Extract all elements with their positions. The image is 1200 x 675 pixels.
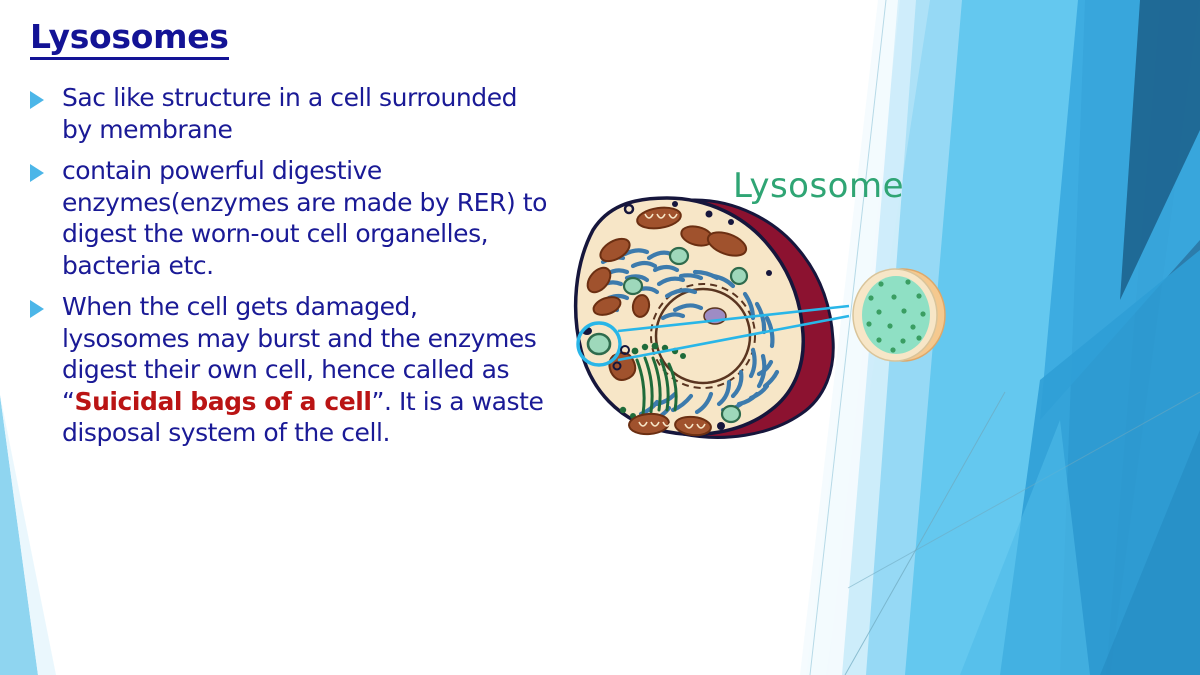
bullet-3-segment-highlight: Suicidal bags of a cell xyxy=(75,387,372,416)
decor-deep-panel xyxy=(1046,0,1200,675)
decor-midblue-lower xyxy=(1000,250,1200,675)
bullet-text-3: When the cell gets damaged, lysosomes ma… xyxy=(62,291,550,449)
membrane-pore xyxy=(728,219,734,225)
magnified-lysosome xyxy=(853,269,945,361)
highlighted-lysosome xyxy=(588,334,610,354)
slide-canvas: Lysosomes Sac like structure in a cell s… xyxy=(0,0,1200,675)
membrane-pore xyxy=(717,422,725,430)
triangle-right-icon xyxy=(30,300,54,318)
membrane-pore xyxy=(706,211,713,218)
list-item: When the cell gets damaged, lysosomes ma… xyxy=(30,291,550,449)
decor-bottom-light-1 xyxy=(960,420,1090,675)
list-item: contain powerful digestive enzymes(enzym… xyxy=(30,155,550,281)
bullet-text-2: contain powerful digestive enzymes(enzym… xyxy=(62,155,550,281)
decor-midblue-triangle xyxy=(1040,0,1200,420)
membrane-pore xyxy=(625,205,633,213)
triangle-right-icon xyxy=(30,164,54,182)
lysosome-figure: Lysosome xyxy=(563,158,963,448)
list-item: Sac like structure in a cell surrounded … xyxy=(30,82,550,145)
decor-steel-band xyxy=(960,0,1160,675)
bullet-list: Sac like structure in a cell surrounded … xyxy=(30,82,550,459)
decor-bottom-light-2 xyxy=(1100,430,1200,675)
membrane-pore xyxy=(766,270,772,276)
decor-deep-panel-2 xyxy=(1110,0,1200,675)
triangle-right-icon xyxy=(30,91,54,109)
bullet-text-1: Sac like structure in a cell surrounded … xyxy=(62,82,550,145)
page-title: Lysosomes xyxy=(30,20,229,60)
cell-diagram-svg xyxy=(563,158,963,448)
decor-deep-spike xyxy=(1120,0,1200,300)
membrane-pore xyxy=(672,201,678,207)
